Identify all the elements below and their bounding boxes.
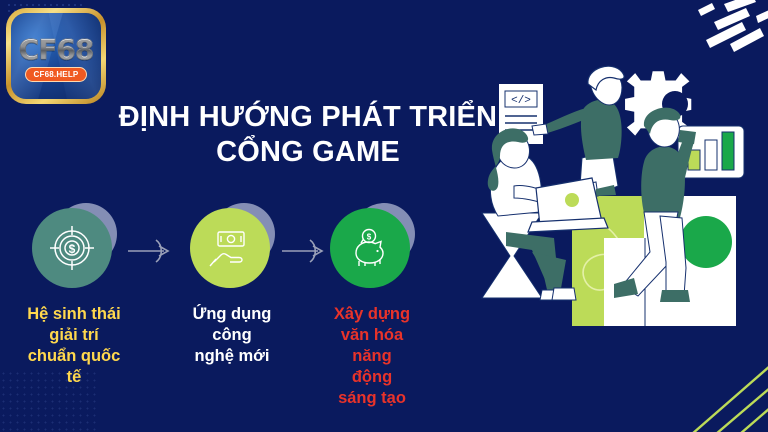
- person-presenting: [532, 66, 624, 197]
- slide-canvas: CF68 CF68.HELP ĐỊNH HƯỚNG PHÁT TRIỂN CỔN…: [0, 0, 768, 432]
- step-2-label: Ứng dụng công nghệ mới: [166, 304, 298, 367]
- logo-wordmark: CF68: [19, 36, 94, 64]
- step-ung-dung-cong-nghe[interactable]: Ứng dụng công nghệ mới: [166, 208, 298, 367]
- team-technology-illustration: </>: [462, 46, 768, 386]
- step-3-bubble-wrap: $: [330, 208, 414, 292]
- step-1-bubble: $: [32, 208, 112, 288]
- svg-text:$: $: [367, 233, 372, 242]
- step-he-sinh-thai[interactable]: $ Hệ sinh thái giải trí chuẩn quốc tế: [4, 208, 144, 388]
- headline-line-1: ĐỊNH HƯỚNG PHÁT TRIỂN: [98, 100, 518, 135]
- step-3-label: Xây dựng văn hóa năng động sáng tạo: [302, 304, 442, 410]
- step-van-hoa-sang-tao[interactable]: $ Xây dựng văn hóa năng động sáng tạo: [302, 208, 442, 410]
- page-title: ĐỊNH HƯỚNG PHÁT TRIỂN CỔNG GAME: [98, 100, 518, 171]
- step-2-bubble-wrap: [190, 208, 274, 292]
- step-1-bubble-wrap: $: [32, 208, 116, 292]
- piggy-bank-icon: $: [347, 227, 393, 269]
- step-2-bubble: [190, 208, 270, 288]
- hand-money-icon: [208, 228, 252, 268]
- cf68-logo[interactable]: CF68 CF68.HELP: [6, 8, 106, 104]
- logo-inner: CF68 CF68.HELP: [11, 13, 101, 99]
- step-1-label: Hệ sinh thái giải trí chuẩn quốc tế: [4, 304, 144, 388]
- green-circle-accent: [680, 216, 732, 268]
- target-dollar-icon: $: [49, 225, 95, 271]
- logo-badge: CF68.HELP: [25, 67, 88, 82]
- step-3-bubble: $: [330, 208, 410, 288]
- svg-text:</>: </>: [511, 95, 531, 107]
- svg-text:$: $: [69, 242, 76, 256]
- headline-line-2: CỔNG GAME: [98, 135, 518, 170]
